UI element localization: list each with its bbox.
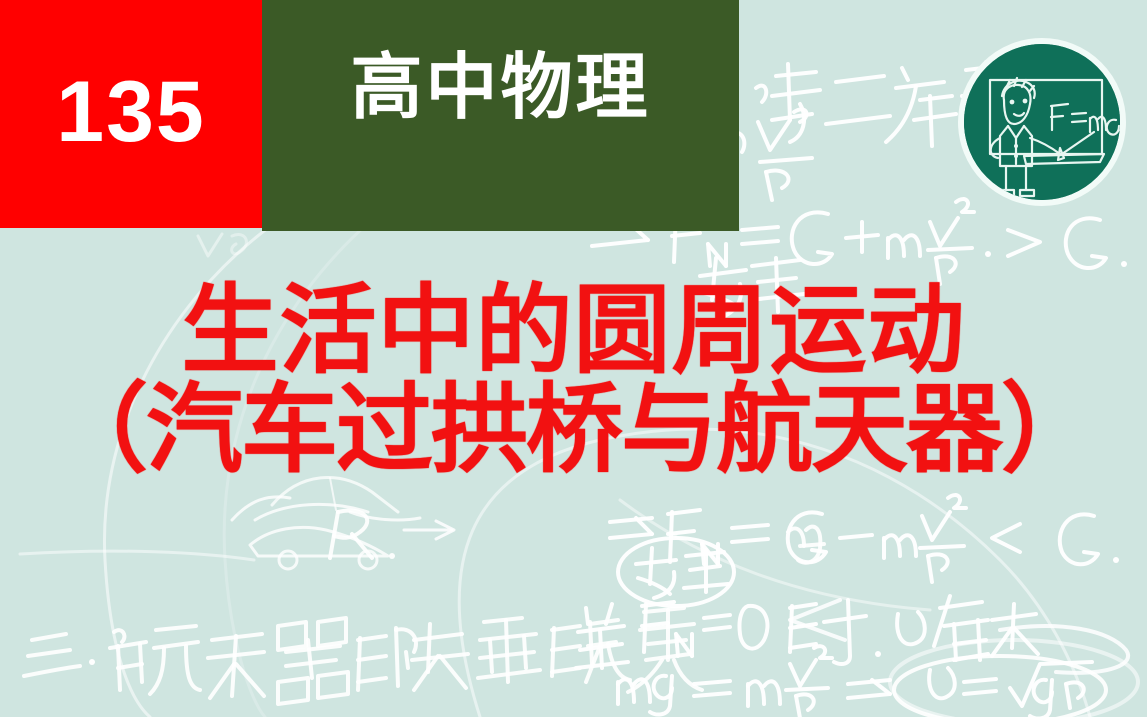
title-line-2: （汽车过拱桥与航天器）: [0, 381, 1147, 480]
subject-block: 高中物理: [262, 0, 739, 231]
episode-number-text: 135: [56, 69, 206, 155]
logo-illustration: [964, 44, 1120, 200]
slide-canvas: 135 高中物理: [0, 0, 1147, 717]
teacher-blackboard-logo: [958, 38, 1126, 206]
title-line-1: 生活中的圆周运动: [0, 282, 1147, 381]
episode-number-block: 135: [0, 0, 262, 228]
subject-text: 高中物理: [350, 52, 650, 124]
slide-title: 生活中的圆周运动 （汽车过拱桥与航天器）: [0, 282, 1147, 480]
